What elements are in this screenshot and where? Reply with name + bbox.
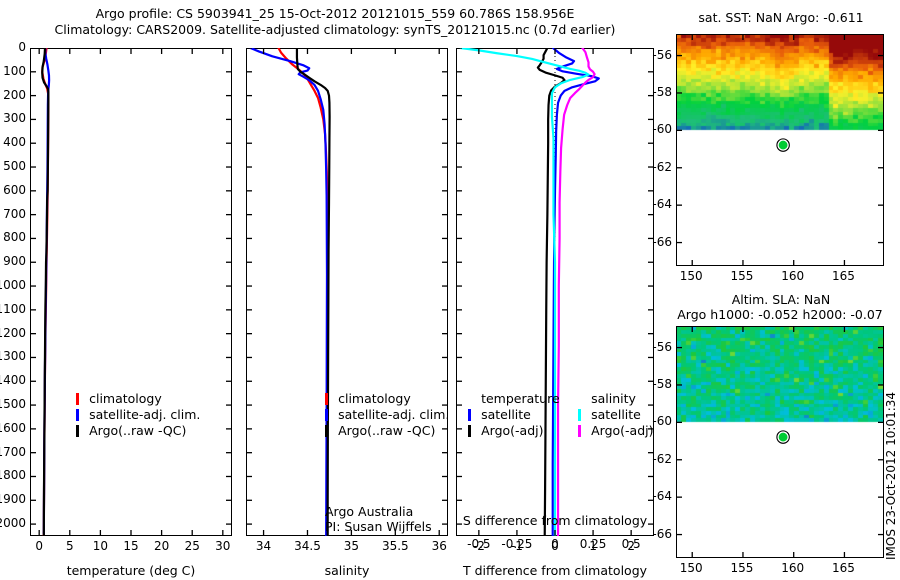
axis-tick-label: 1800 — [0, 468, 26, 482]
axis-tick-label: 150 — [671, 269, 711, 283]
salinity-legend: climatology satellite-adj. clim. Argo(..… — [325, 390, 449, 438]
legend-label: Argo(..raw -QC) — [338, 423, 435, 438]
axis-tick-label: 1600 — [0, 421, 26, 435]
axis-tick-label: 30 — [203, 539, 243, 553]
axis-tick-label: -64 — [640, 489, 672, 503]
temperature-axis-label: temperature (deg C) — [30, 563, 232, 578]
imos-timestamp-text: IMOS 23-Oct-2012 10:01:34 — [884, 392, 898, 560]
legend-item: climatology — [76, 390, 200, 406]
difference-legend-temperature: temperature satellite Argo(-adj) — [468, 390, 560, 438]
legend-label: climatology — [89, 391, 162, 406]
temperature-difference-axis-label: T difference from climatology — [456, 563, 654, 578]
legend-swatch-argo-raw — [76, 425, 79, 437]
sla-map-title-line1: Altim. SLA: NaN — [676, 292, 886, 307]
legend-item: Argo(..raw -QC) — [325, 422, 449, 438]
axis-tick-label: -56 — [640, 340, 672, 354]
legend-label: climatology — [338, 391, 411, 406]
axis-tick-label: -1 — [497, 539, 537, 553]
legend-swatch-climatology — [325, 393, 328, 405]
axis-tick-label: 1200 — [0, 326, 26, 340]
axis-tick-label: -60 — [640, 414, 672, 428]
axis-tick-label: 200 — [0, 88, 26, 102]
figure-title-line2: Climatology: CARS2009. Satellite-adjuste… — [30, 22, 640, 37]
legend-label: satellite — [481, 407, 531, 422]
legend-swatch-salinity-satellite — [578, 409, 581, 421]
legend-swatch-spacer — [468, 393, 471, 405]
axis-tick-label: 100 — [0, 64, 26, 78]
axis-tick-label: 155 — [722, 269, 762, 283]
axis-tick-label: 165 — [823, 269, 863, 283]
axis-tick-label: 34.5 — [285, 539, 329, 553]
axis-tick-label: -58 — [640, 377, 672, 391]
credit-line-1: Argo Australia — [325, 504, 413, 519]
legend-header-label: temperature — [481, 391, 560, 406]
axis-tick-label: -58 — [640, 85, 672, 99]
legend-label: Argo(..raw -QC) — [89, 423, 186, 438]
axis-tick-label: 165 — [823, 561, 863, 575]
axis-tick-label: 400 — [0, 135, 26, 149]
legend-swatch-argo-raw — [325, 425, 328, 437]
legend-swatch-temperature-argo-adj — [468, 425, 471, 437]
axis-tick-label: 700 — [0, 207, 26, 221]
axis-tick-label: 35.5 — [373, 539, 417, 553]
axis-tick-label: 160 — [773, 269, 813, 283]
axis-tick-label: 1300 — [0, 349, 26, 363]
axis-tick-label: -62 — [640, 160, 672, 174]
legend-item: climatology — [325, 390, 449, 406]
axis-tick-label: 300 — [0, 111, 26, 125]
temperature-plot-canvas — [30, 48, 232, 536]
temperature-legend: climatology satellite-adj. clim. Argo(..… — [76, 390, 200, 438]
axis-tick-label: -56 — [640, 48, 672, 62]
axis-tick-label: 800 — [0, 230, 26, 244]
axis-tick-label: 0 — [0, 40, 26, 54]
figure-title-line1: Argo profile: CS 5903941_25 15-Oct-2012 … — [30, 6, 640, 21]
legend-item: satellite-adj. clim. — [325, 406, 449, 422]
legend-header-label: salinity — [591, 391, 636, 406]
axis-tick-label: 600 — [0, 183, 26, 197]
axis-tick-label: 2000 — [0, 516, 26, 530]
axis-tick-label: -2 — [459, 539, 499, 553]
sst-map-title: sat. SST: NaN Argo: -0.611 — [676, 10, 886, 25]
axis-tick-label: 0 — [535, 539, 575, 553]
legend-swatch-spacer — [578, 393, 581, 405]
salinity-plot-canvas — [246, 48, 448, 536]
axis-tick-label: 1 — [573, 539, 613, 553]
axis-tick-label: 1400 — [0, 373, 26, 387]
legend-label: satellite — [591, 407, 641, 422]
legend-item: Argo(-adj) — [468, 422, 560, 438]
axis-tick-label: 1900 — [0, 492, 26, 506]
salinity-difference-axis-label: S difference from climatology — [456, 513, 654, 528]
sla-map-title-line2: Argo h1000: -0.052 h2000: -0.07 — [660, 307, 900, 322]
legend-swatch-satellite-adj — [325, 409, 328, 421]
axis-tick-label: -66 — [640, 235, 672, 249]
axis-tick-label: 35 — [329, 539, 373, 553]
axis-tick-label: 150 — [671, 561, 711, 575]
axis-tick-label: 160 — [773, 561, 813, 575]
axis-tick-label: 1500 — [0, 397, 26, 411]
legend-item: Argo(..raw -QC) — [76, 422, 200, 438]
difference-plot-canvas — [456, 48, 654, 536]
salinity-axis-label: salinity — [246, 563, 448, 578]
axis-tick-label: 34 — [242, 539, 286, 553]
legend-swatch-temperature-satellite — [468, 409, 471, 421]
axis-tick-label: 2 — [611, 539, 651, 553]
sst-map-canvas — [677, 35, 883, 265]
legend-label: Argo(-adj) — [481, 423, 543, 438]
legend-swatch-salinity-argo-adj — [578, 425, 581, 437]
axis-tick-label: 36 — [417, 539, 461, 553]
axis-tick-label: 155 — [722, 561, 762, 575]
axis-tick-label: -66 — [640, 527, 672, 541]
axis-tick-label: 500 — [0, 159, 26, 173]
legend-item: satellite-adj. clim. — [76, 406, 200, 422]
legend-label: satellite-adj. clim. — [338, 407, 449, 422]
sla-map-canvas — [677, 327, 883, 557]
axis-tick-label: -60 — [640, 122, 672, 136]
axis-tick-label: 1100 — [0, 302, 26, 316]
legend-group-header: temperature — [468, 390, 560, 406]
credit-line-2: PI: Susan Wijffels — [325, 519, 432, 534]
axis-tick-label: -64 — [640, 197, 672, 211]
axis-tick-label: -62 — [640, 452, 672, 466]
axis-tick-label: 900 — [0, 254, 26, 268]
axis-tick-label: 1700 — [0, 445, 26, 459]
imos-timestamp: IMOS 23-Oct-2012 10:01:34 — [884, 560, 900, 574]
axis-tick-label: 1000 — [0, 278, 26, 292]
legend-label: satellite-adj. clim. — [89, 407, 200, 422]
legend-swatch-climatology — [76, 393, 79, 405]
legend-item: satellite — [468, 406, 560, 422]
legend-swatch-satellite-adj — [76, 409, 79, 421]
